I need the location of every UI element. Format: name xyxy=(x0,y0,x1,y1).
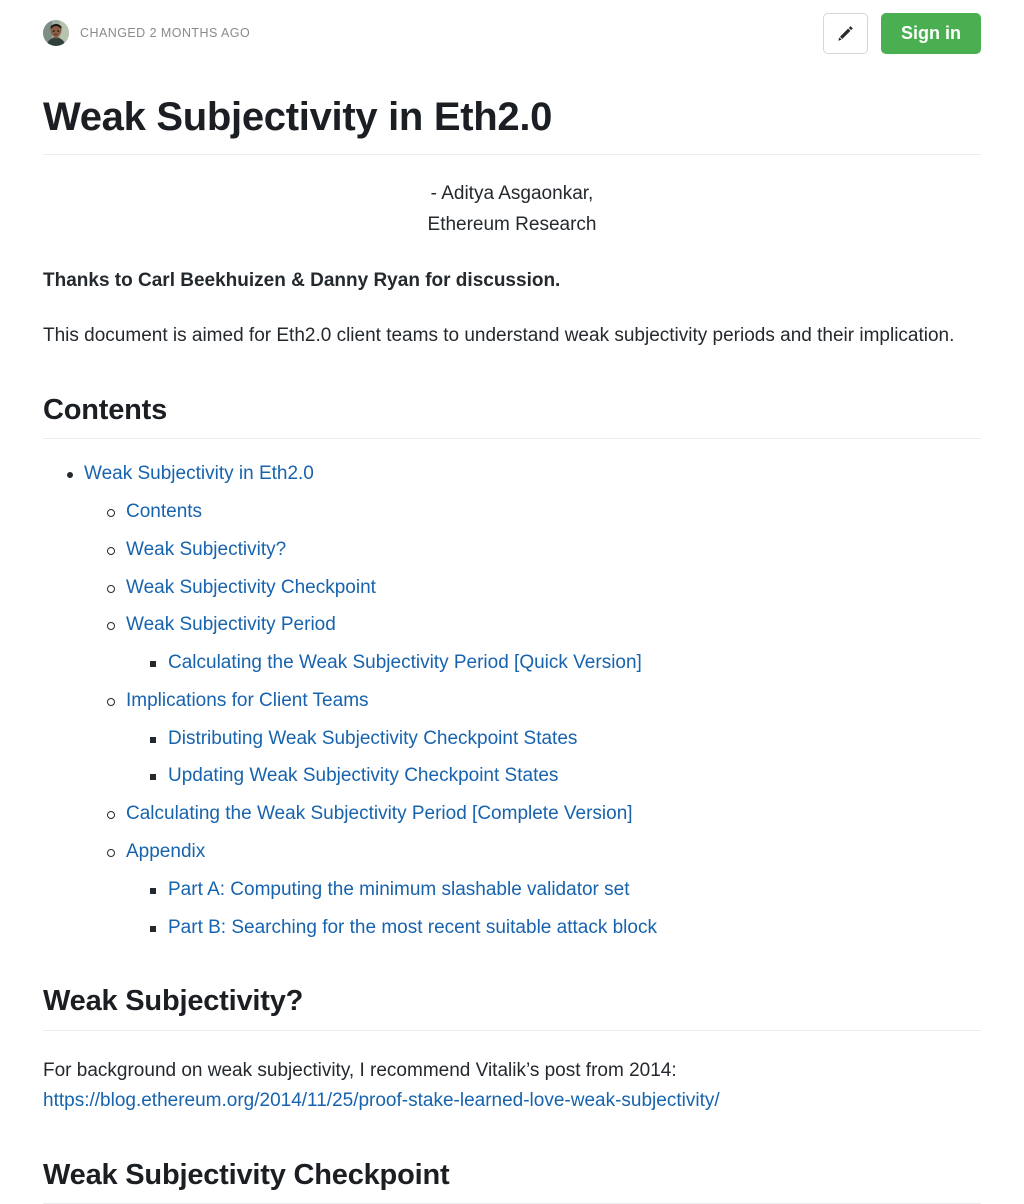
toc-item-appendix: Appendix Part A: Computing the minimum s… xyxy=(84,837,981,943)
page-root: CHANGED 2 MONTHS AGO Sign in Weak Subjec… xyxy=(0,0,1024,1204)
toc-item-part-a: Part A: Computing the minimum slashable … xyxy=(126,875,981,906)
toc-item-updating-states: Updating Weak Subjectivity Checkpoint St… xyxy=(126,761,981,792)
contents-heading: Contents xyxy=(43,392,981,439)
sign-in-button[interactable]: Sign in xyxy=(881,13,981,54)
toc-link-calculating-complete[interactable]: Calculating the Weak Subjectivity Period… xyxy=(126,803,633,824)
pencil-icon xyxy=(836,24,855,43)
toc-link-root[interactable]: Weak Subjectivity in Eth2.0 xyxy=(84,463,314,484)
toc-level-3-appendix: Part A: Computing the minimum slashable … xyxy=(126,875,981,944)
document-meta: CHANGED 2 MONTHS AGO xyxy=(43,20,250,46)
toc-item-part-b: Part B: Searching for the most recent su… xyxy=(126,913,981,944)
toc-link-distributing-states[interactable]: Distributing Weak Subjectivity Checkpoin… xyxy=(168,728,577,749)
toc-link-weak-subjectivity[interactable]: Weak Subjectivity? xyxy=(126,539,286,560)
toc-item-contents: Contents xyxy=(84,497,981,528)
toc-link-implications-client-teams[interactable]: Implications for Client Teams xyxy=(126,690,369,711)
toc-root-item: Weak Subjectivity in Eth2.0 Contents Wea… xyxy=(43,459,981,943)
top-bar: CHANGED 2 MONTHS AGO Sign in xyxy=(34,0,990,66)
byline-author: - Aditya Asgaonkar, xyxy=(43,179,981,210)
toc-link-updating-states[interactable]: Updating Weak Subjectivity Checkpoint St… xyxy=(168,765,558,786)
toc-level-2: Contents Weak Subjectivity? Weak Subject… xyxy=(84,497,981,943)
toc-item-weak-subjectivity: Weak Subjectivity? xyxy=(84,535,981,566)
toc-link-contents[interactable]: Contents xyxy=(126,501,202,522)
document-body: Weak Subjectivity in Eth2.0 - Aditya Asg… xyxy=(34,92,990,1204)
toc-link-calculating-quick[interactable]: Calculating the Weak Subjectivity Period… xyxy=(168,652,642,673)
section-heading-weak-subjectivity-checkpoint: Weak Subjectivity Checkpoint xyxy=(43,1157,981,1204)
toc-item-weak-subjectivity-period: Weak Subjectivity Period Calculating the… xyxy=(84,610,981,679)
toc-link-part-b[interactable]: Part B: Searching for the most recent su… xyxy=(168,917,657,938)
header-actions: Sign in xyxy=(823,13,981,54)
vitalik-post-link[interactable]: https://blog.ethereum.org/2014/11/25/pro… xyxy=(43,1086,720,1117)
toc-item-implications-client-teams: Implications for Client Teams Distributi… xyxy=(84,686,981,792)
byline-affiliation: Ethereum Research xyxy=(43,210,981,241)
intro-paragraph: This document is aimed for Eth2.0 client… xyxy=(43,321,981,352)
toc-item-distributing-states: Distributing Weak Subjectivity Checkpoin… xyxy=(126,724,981,755)
section-heading-weak-subjectivity: Weak Subjectivity? xyxy=(43,983,981,1030)
section-paragraph-weak-subjectivity: For background on weak subjectivity, I r… xyxy=(43,1056,981,1118)
toc-item-calculating-complete: Calculating the Weak Subjectivity Period… xyxy=(84,799,981,830)
byline: - Aditya Asgaonkar, Ethereum Research xyxy=(43,179,981,241)
changed-timestamp: CHANGED 2 MONTHS AGO xyxy=(80,26,250,40)
toc-link-appendix[interactable]: Appendix xyxy=(126,841,205,862)
toc-link-weak-subjectivity-checkpoint[interactable]: Weak Subjectivity Checkpoint xyxy=(126,577,376,598)
edit-button[interactable] xyxy=(823,13,868,54)
toc-link-weak-subjectivity-period[interactable]: Weak Subjectivity Period xyxy=(126,614,336,635)
table-of-contents: Weak Subjectivity in Eth2.0 Contents Wea… xyxy=(43,459,981,943)
toc-level-3-implications: Distributing Weak Subjectivity Checkpoin… xyxy=(126,724,981,793)
toc-item-weak-subjectivity-checkpoint: Weak Subjectivity Checkpoint xyxy=(84,573,981,604)
section-paragraph-text: For background on weak subjectivity, I r… xyxy=(43,1060,677,1081)
toc-level-3-period: Calculating the Weak Subjectivity Period… xyxy=(126,648,981,679)
avatar xyxy=(43,20,69,46)
toc-item-calculating-quick: Calculating the Weak Subjectivity Period… xyxy=(126,648,981,679)
page-title: Weak Subjectivity in Eth2.0 xyxy=(43,92,981,155)
toc-link-part-a[interactable]: Part A: Computing the minimum slashable … xyxy=(168,879,630,900)
thanks-paragraph: Thanks to Carl Beekhuizen & Danny Ryan f… xyxy=(43,266,981,297)
